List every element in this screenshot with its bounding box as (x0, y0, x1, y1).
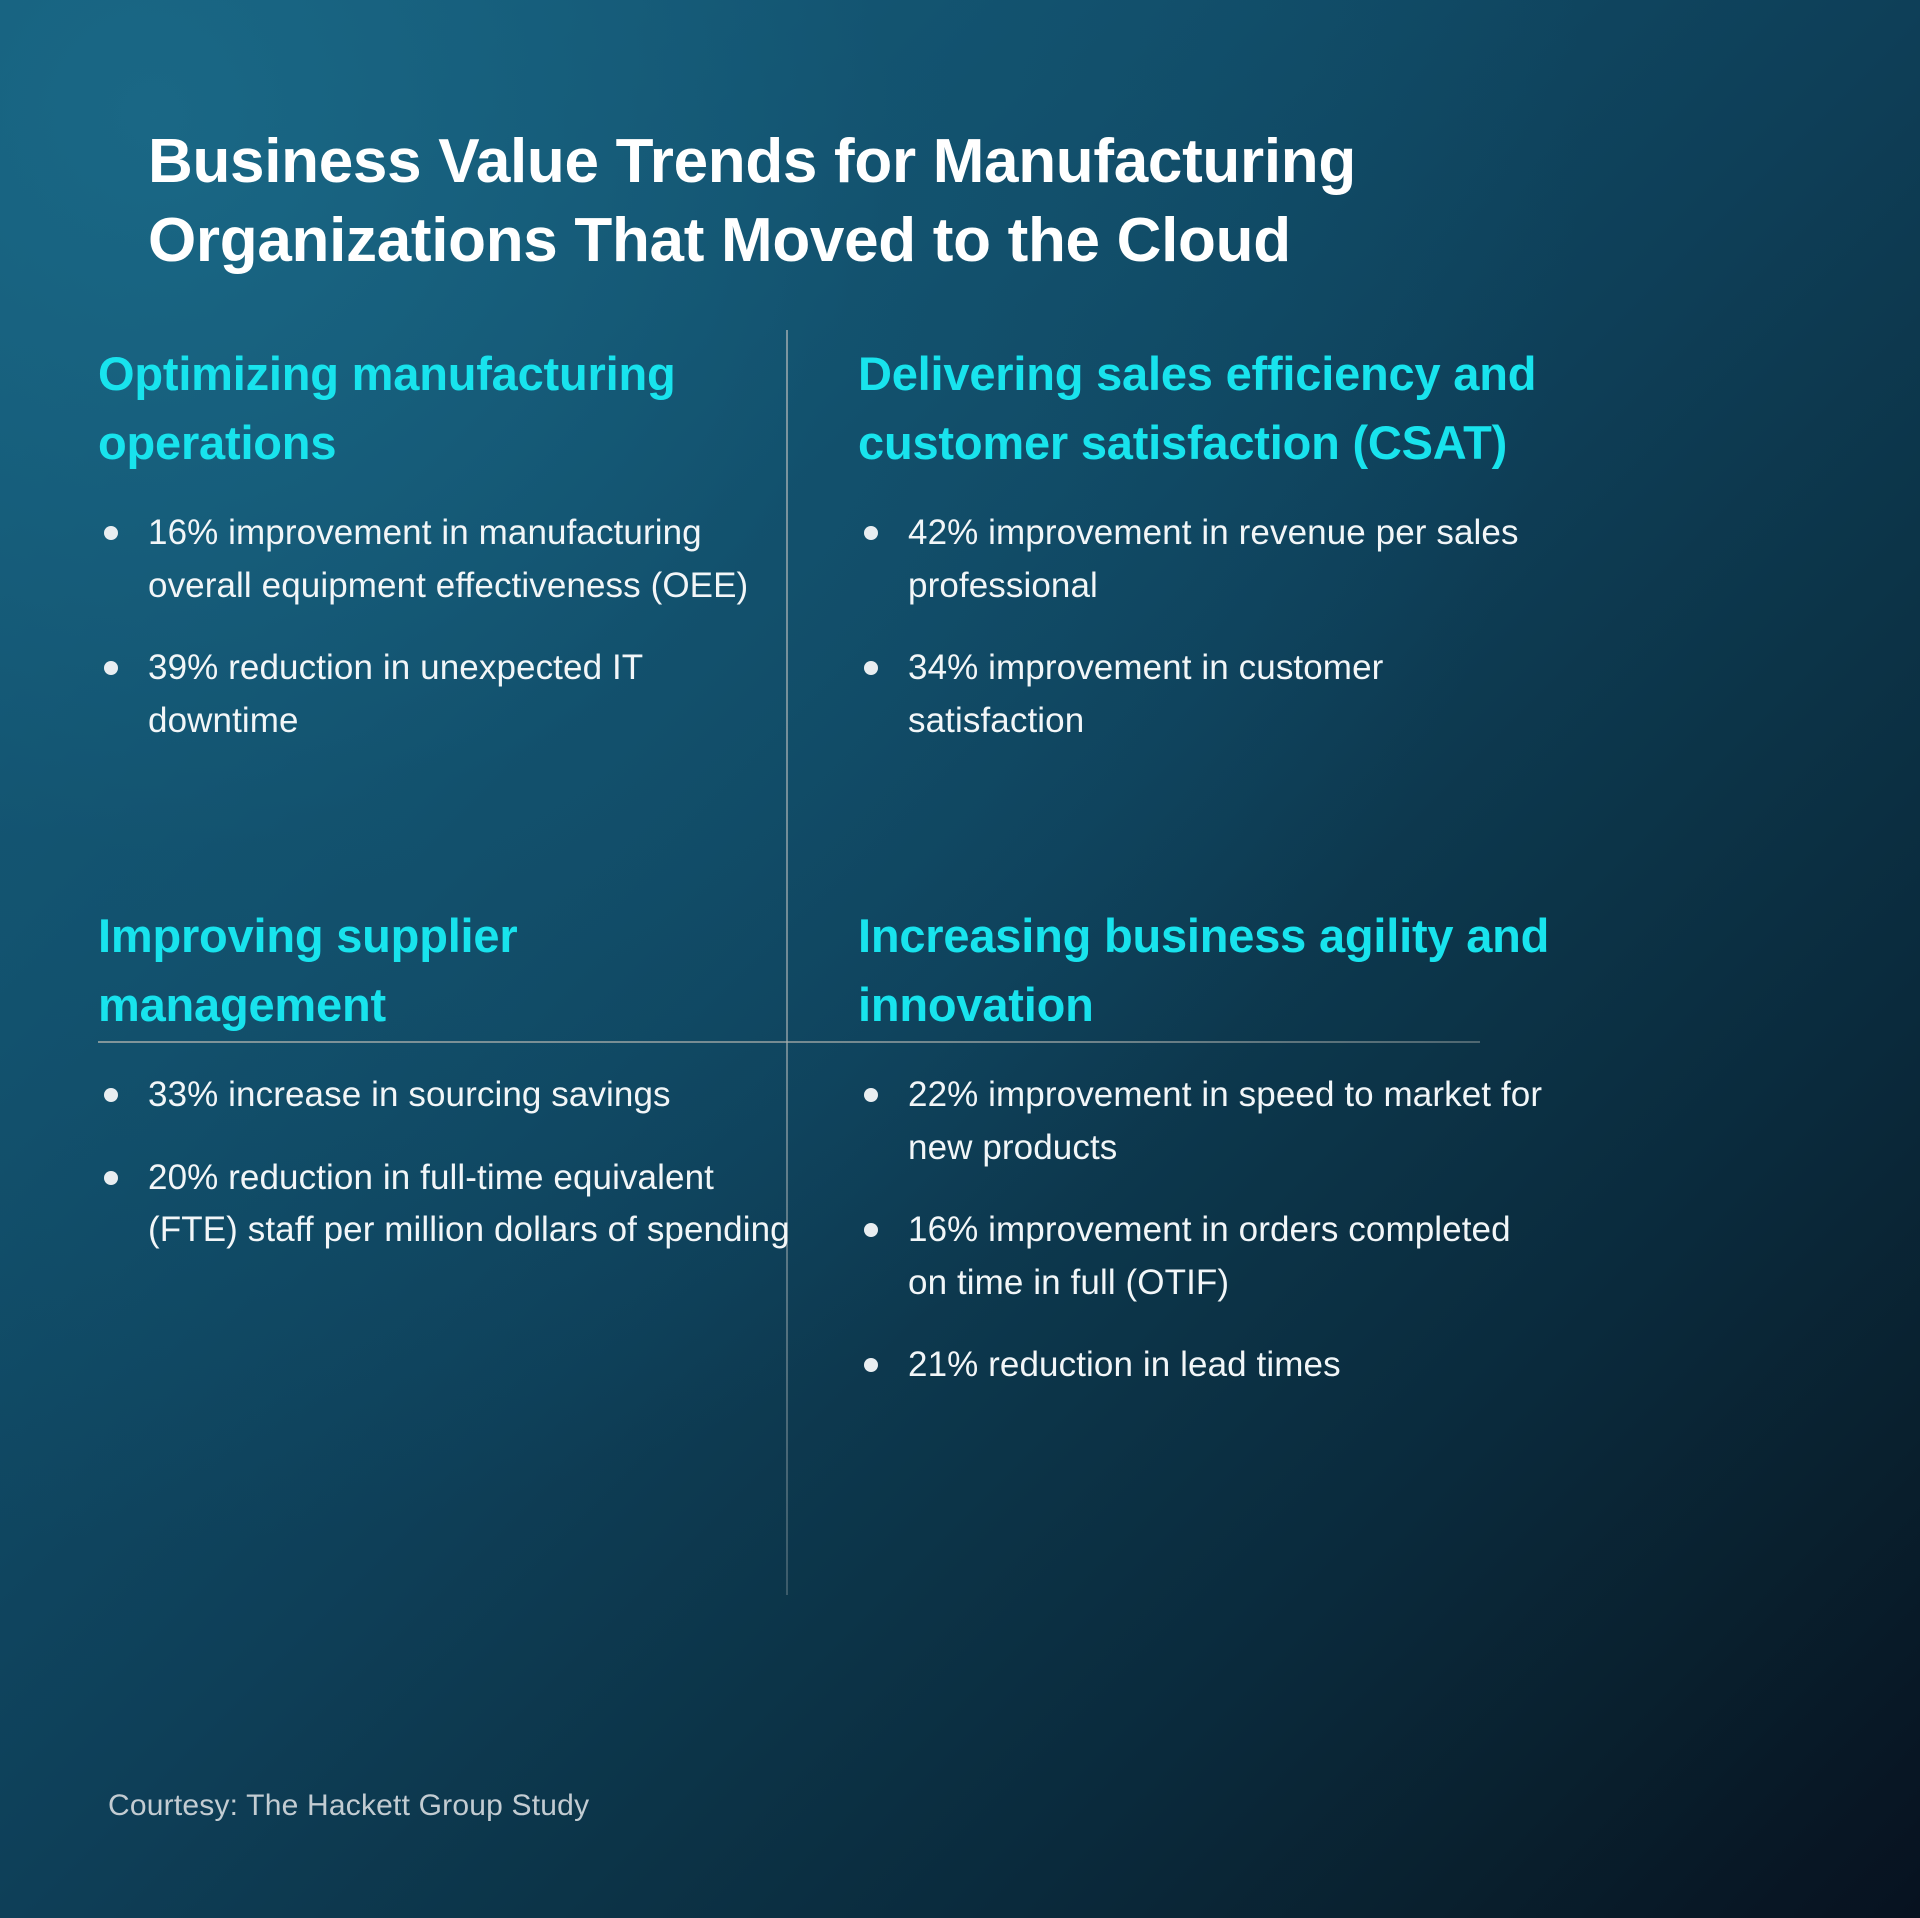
list-item-text: 16% improvement in orders completed on t… (908, 1210, 1511, 1302)
bullet-dot-icon (864, 526, 878, 540)
bullet-dot-icon (864, 661, 878, 675)
list-item-text: 33% increase in sourcing savings (148, 1075, 671, 1114)
bullet-dot-icon (864, 1088, 878, 1102)
quadrant-heading: Increasing business agility and innovati… (858, 902, 1558, 1039)
quadrant-improving-supplier-management: Improving supplier management 33% increa… (98, 902, 798, 1257)
infographic-canvas: Business Value Trends for Manufacturing … (0, 0, 1920, 1918)
bullet-dot-icon (104, 661, 118, 675)
bullet-list: 42% improvement in revenue per sales pro… (858, 507, 1558, 747)
list-item: 22% improvement in speed to market for n… (858, 1069, 1558, 1174)
quadrant-heading: Delivering sales efficiency and customer… (858, 340, 1558, 477)
quadrant-optimizing-manufacturing-operations: Optimizing manufacturing operations 16% … (98, 340, 798, 747)
bullet-list: 33% increase in sourcing savings 20% red… (98, 1069, 798, 1257)
quadrant-grid: Optimizing manufacturing operations 16% … (98, 340, 1798, 1640)
bullet-dot-icon (104, 1088, 118, 1102)
list-item: 39% reduction in unexpected IT downtime (98, 642, 798, 747)
bullet-dot-icon (104, 526, 118, 540)
quadrant-heading: Improving supplier management (98, 902, 798, 1039)
list-item: 20% reduction in full-time equivalent (F… (98, 1152, 798, 1257)
list-item: 42% improvement in revenue per sales pro… (858, 507, 1558, 612)
list-item-text: 20% reduction in full-time equivalent (F… (148, 1158, 790, 1250)
bullet-dot-icon (864, 1223, 878, 1237)
list-item-text: 22% improvement in speed to market for n… (908, 1075, 1542, 1167)
bullet-list: 22% improvement in speed to market for n… (858, 1069, 1558, 1392)
quadrant-heading: Optimizing manufacturing operations (98, 340, 798, 477)
bullet-dot-icon (864, 1358, 878, 1372)
courtesy-credit: Courtesy: The Hackett Group Study (108, 1789, 589, 1823)
bullet-list: 16% improvement in manufacturing overall… (98, 507, 798, 747)
list-item-text: 21% reduction in lead times (908, 1345, 1341, 1384)
list-item-text: 42% improvement in revenue per sales pro… (908, 513, 1519, 605)
list-item: 16% improvement in manufacturing overall… (98, 507, 798, 612)
quadrant-delivering-sales-efficiency-and-csat: Delivering sales efficiency and customer… (858, 340, 1558, 747)
list-item-text: 39% reduction in unexpected IT downtime (148, 648, 643, 740)
quadrant-increasing-business-agility-and-innovation: Increasing business agility and innovati… (858, 902, 1558, 1392)
list-item-text: 16% improvement in manufacturing overall… (148, 513, 748, 605)
list-item: 16% improvement in orders completed on t… (858, 1204, 1558, 1309)
list-item: 33% increase in sourcing savings (98, 1069, 798, 1122)
list-item: 21% reduction in lead times (858, 1339, 1558, 1392)
list-item: 34% improvement in customer satisfaction (858, 642, 1558, 747)
list-item-text: 34% improvement in customer satisfaction (908, 648, 1383, 740)
bullet-dot-icon (104, 1171, 118, 1185)
page-title: Business Value Trends for Manufacturing … (148, 122, 1568, 281)
